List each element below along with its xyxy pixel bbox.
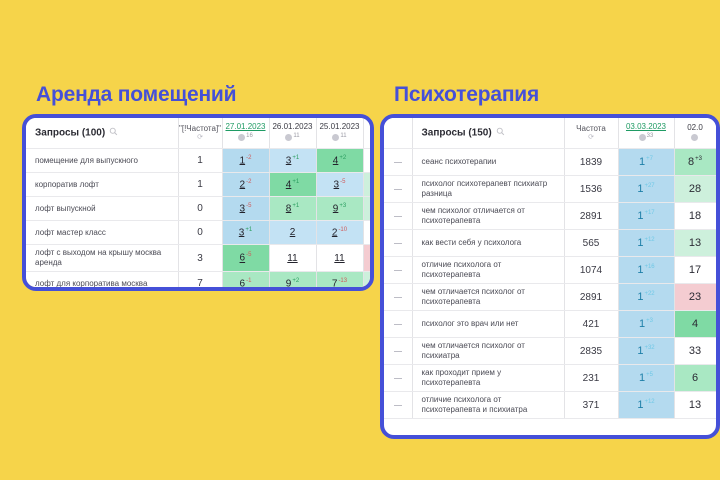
minus-icon[interactable] (384, 311, 412, 338)
header-date-0-count: 33 (619, 133, 674, 144)
position-value[interactable]: 1+7 (639, 156, 653, 168)
query-cell[interactable]: чем психолог отличается от психотерапевт… (412, 203, 564, 230)
table-row[interactable]: чем отличается психолог от психотерапевт… (384, 284, 716, 311)
header-query-left[interactable]: Запросы (100) (26, 118, 178, 149)
position-value[interactable]: 13 (689, 237, 701, 249)
position-value[interactable]: 6 (692, 372, 698, 384)
query-cell[interactable]: лофт с выходом на крышу москва аренда (26, 245, 178, 272)
position-delta: +22 (644, 291, 654, 297)
table-row[interactable]: чем отличается психолог от психиатра2835… (384, 338, 716, 365)
header-frequency-left[interactable]: "[!Частота]" ⟳ (178, 118, 222, 149)
position-delta: +2 (339, 155, 346, 161)
position-cell[interactable]: 6-5 (222, 245, 269, 272)
table-row[interactable]: психолог психотерапевт психиатр разница1… (384, 176, 716, 203)
minus-glyph (394, 297, 402, 298)
position-delta: +12 (644, 399, 654, 405)
position-cell[interactable]: 3+1 (269, 149, 316, 173)
header-date-2-count-value: 11 (340, 133, 346, 139)
query-cell[interactable]: лофт мастер класс (26, 221, 178, 245)
position-delta: -2 (246, 179, 251, 185)
query-cell[interactable]: лофт для корпоратива москва (26, 272, 178, 292)
position-cell[interactable]: 3-5 (222, 197, 269, 221)
minus-icon[interactable] (384, 257, 412, 284)
rank-table-right-body: сеанс психотерапии18391+78+3психолог пси… (384, 149, 716, 419)
minus-glyph (394, 378, 402, 379)
query-cell[interactable]: корпоратив лофт (26, 173, 178, 197)
minus-icon[interactable] (384, 176, 412, 203)
query-cell[interactable]: как проходит прием у психотерапевта (412, 365, 564, 392)
minus-icon[interactable] (384, 365, 412, 392)
minus-icon[interactable] (384, 392, 412, 419)
right-panel: Психотерапия Запросы (150) (380, 84, 720, 439)
table-row[interactable]: помещение для выпускного11-23+14+224 (26, 149, 374, 173)
header-date-0[interactable]: 03.03.2023 33 (618, 118, 674, 149)
position-value[interactable]: 1+22 (637, 291, 654, 303)
position-value[interactable]: 33 (689, 345, 701, 357)
position-delta: +3 (695, 156, 702, 162)
minus-glyph (394, 405, 402, 406)
query-cell[interactable]: психолог психотерапевт психиатр разница (412, 176, 564, 203)
position-cell[interactable]: 13 (674, 230, 716, 257)
position-cell[interactable]: 9+2 (269, 272, 316, 292)
frequency-cell: 1 (178, 173, 222, 197)
position-value[interactable]: 1+12 (637, 237, 654, 249)
position-value[interactable]: 2 (290, 227, 296, 238)
header-date-1[interactable]: 02.0 (674, 118, 716, 149)
header-date-0-label[interactable]: 03.03.2023 (626, 122, 666, 131)
query-cell[interactable]: чем отличается психолог от психотерапевт… (412, 284, 564, 311)
position-cell[interactable]: 1+27 (618, 176, 674, 203)
table-row[interactable]: отличие психолога от психотерапевта и пс… (384, 392, 716, 419)
query-cell[interactable]: сеанс психотерапии (412, 149, 564, 176)
query-cell[interactable]: как вести себя у психолога (412, 230, 564, 257)
frequency-cell: 421 (564, 311, 618, 338)
position-delta: +32 (644, 345, 654, 351)
position-delta: +1 (292, 203, 299, 209)
globe-icon (332, 134, 339, 141)
position-value[interactable]: 4 (692, 318, 698, 330)
position-value[interactable]: 3 (286, 155, 292, 166)
position-cell[interactable]: 1+7 (618, 149, 674, 176)
frequency-cell: 0 (178, 197, 222, 221)
query-cell[interactable]: помещение для выпускного (26, 149, 178, 173)
position-cell[interactable]: 1+16 (618, 257, 674, 284)
frequency-cell: 1839 (564, 149, 618, 176)
table-row[interactable]: чем психолог отличается от психотерапевт… (384, 203, 716, 230)
table-row[interactable]: отличие психолога от психотерапевта10741… (384, 257, 716, 284)
table-header-row: Запросы (100) "[!Частота]" ⟳ 27.01.2023 … (26, 118, 374, 149)
position-cell[interactable]: 12 (363, 197, 374, 221)
query-cell[interactable]: психолог это врач или нет (412, 311, 564, 338)
table-row[interactable]: лофт выпускной03-58+19+312 (26, 197, 374, 221)
position-value[interactable]: 2 (240, 179, 246, 190)
position-delta: +16 (644, 264, 654, 270)
position-cell[interactable]: 8 (363, 173, 374, 197)
minus-icon[interactable] (384, 284, 412, 311)
minus-glyph (394, 189, 402, 190)
header-date-0-label[interactable]: 27.01.2023 (225, 122, 265, 131)
position-delta: +1 (292, 155, 299, 161)
header-date-3[interactable]: 24. (363, 118, 374, 149)
header-frequency-label: "[!Частота]" (179, 124, 221, 133)
position-delta: -5 (246, 252, 251, 258)
position-cell[interactable]: 1+22 (618, 284, 674, 311)
position-delta: +1 (292, 179, 299, 185)
position-value[interactable]: 1+3 (639, 318, 653, 330)
position-cell[interactable]: 9+3 (316, 197, 363, 221)
header-date-2-label[interactable]: 25.01.2023 (319, 122, 359, 131)
position-cell[interactable]: 17 (674, 257, 716, 284)
position-cell[interactable]: 1+12 (618, 230, 674, 257)
header-date-2-count: 11 (317, 133, 363, 144)
header-frequency-sub: ⟳ (565, 134, 618, 142)
position-delta: +3 (646, 318, 653, 324)
query-cell[interactable]: отличие психолога от психотерапевта и пс… (412, 392, 564, 419)
position-cell[interactable]: 1+32 (618, 338, 674, 365)
table-row[interactable]: как проходит прием у психотерапевта2311+… (384, 365, 716, 392)
header-query-right[interactable]: Запросы (150) (412, 118, 564, 149)
header-date-1-label[interactable]: 02.0 (687, 123, 703, 132)
position-delta: -5 (340, 179, 345, 185)
header-date-2[interactable]: 25.01.2023 11 (316, 118, 363, 149)
position-cell[interactable]: 24 (363, 149, 374, 173)
globe-icon (285, 134, 292, 141)
table-header-row: Запросы (150) Частота ⟳ 03.03.2023 33 02… (384, 118, 716, 149)
query-cell[interactable]: лофт выпускной (26, 197, 178, 221)
minus-glyph (394, 270, 402, 271)
position-value[interactable]: 7 (332, 278, 338, 289)
frequency-cell: 1074 (564, 257, 618, 284)
position-delta: +7 (646, 156, 653, 162)
position-cell[interactable]: 1+3 (618, 311, 674, 338)
table-row[interactable]: лофт для корпоратива москва76-19+27-1320 (26, 272, 374, 292)
table-row[interactable]: корпоратив лофт12-24+13-58 (26, 173, 374, 197)
position-value[interactable]: 23 (689, 291, 701, 303)
table-row[interactable]: сеанс психотерапии18391+78+3 (384, 149, 716, 176)
position-cell[interactable]: 2-2 (222, 173, 269, 197)
header-date-1-count (675, 134, 716, 143)
frequency-cell: 231 (564, 365, 618, 392)
globe-icon (238, 134, 245, 141)
position-cell[interactable]: 11 (316, 245, 363, 272)
position-cell[interactable]: 20 (363, 272, 374, 292)
position-delta: +2 (292, 278, 299, 284)
frequency-cell: 371 (564, 392, 618, 419)
header-date-1-count: 11 (270, 133, 316, 144)
minus-icon[interactable] (384, 203, 412, 230)
position-cell[interactable]: 6 (674, 365, 716, 392)
position-value[interactable]: 13 (689, 399, 701, 411)
position-cell[interactable]: 4+1 (269, 173, 316, 197)
position-cell[interactable]: 33 (674, 338, 716, 365)
position-delta: +12 (644, 237, 654, 243)
header-frequency-right[interactable]: Частота ⟳ (564, 118, 618, 149)
position-cell[interactable]: 13 (674, 392, 716, 419)
position-cell[interactable]: 1+12 (618, 392, 674, 419)
position-value[interactable]: 4 (333, 155, 339, 166)
position-delta: -2 (246, 155, 251, 161)
position-value[interactable]: 11 (334, 253, 344, 264)
position-value[interactable]: 28 (689, 183, 701, 195)
frequency-cell: 2891 (564, 284, 618, 311)
minus-icon[interactable] (384, 338, 412, 365)
header-date-0-count: 16 (223, 133, 269, 144)
position-value[interactable]: 3 (334, 179, 340, 190)
globe-icon (691, 134, 698, 141)
query-cell[interactable]: чем отличается психолог от психиатра (412, 338, 564, 365)
minus-glyph (394, 351, 402, 352)
rank-table-left: Запросы (100) "[!Частота]" ⟳ 27.01.2023 … (26, 118, 374, 291)
position-cell[interactable]: 1+5 (618, 365, 674, 392)
position-value[interactable]: 1+12 (637, 399, 654, 411)
frequency-cell: 7 (178, 272, 222, 292)
screenshot-root: Аренда помещений Запросы (100) (0, 0, 720, 480)
position-delta: +5 (646, 372, 653, 378)
position-delta: -10 (338, 227, 347, 233)
frequency-cell: 0 (178, 221, 222, 245)
position-cell[interactable]: 4+2 (316, 149, 363, 173)
position-cell[interactable]: 7-13 (316, 272, 363, 292)
table-row[interactable]: лофт мастер класс03+122-1012 (26, 221, 374, 245)
position-value[interactable]: 1 (240, 155, 246, 166)
position-cell[interactable]: 2-10 (316, 221, 363, 245)
position-delta: -1 (246, 278, 251, 284)
frequency-cell: 1536 (564, 176, 618, 203)
rank-table-right: Запросы (150) Частота ⟳ 03.03.2023 33 02… (384, 118, 717, 419)
position-delta: +27 (644, 183, 654, 189)
position-delta: +17 (644, 210, 654, 216)
rank-table-left-body: помещение для выпускного11-23+14+224корп… (26, 149, 374, 292)
position-value[interactable]: 8+3 (688, 156, 702, 168)
header-date-1-count-value: 11 (293, 133, 299, 139)
globe-icon (639, 134, 646, 141)
position-value[interactable]: 9 (286, 278, 292, 289)
position-cell[interactable]: 3+1 (222, 221, 269, 245)
position-cell[interactable]: 23 (674, 284, 716, 311)
left-panel-title: Аренда помещений (36, 84, 374, 105)
position-cell[interactable]: 1-2 (222, 149, 269, 173)
position-delta: +3 (339, 203, 346, 209)
header-date-1-label[interactable]: 26.01.2023 (272, 122, 312, 131)
minus-glyph (394, 216, 402, 217)
left-table-card: Запросы (100) "[!Частота]" ⟳ 27.01.2023 … (22, 114, 374, 291)
position-cell[interactable]: 4 (674, 311, 716, 338)
position-value[interactable]: 18 (689, 210, 701, 222)
position-delta: +1 (245, 227, 252, 233)
position-value[interactable]: 4 (286, 179, 292, 190)
position-cell[interactable]: 3-5 (316, 173, 363, 197)
magnifier-icon[interactable] (496, 127, 505, 139)
position-delta: -13 (338, 278, 347, 284)
header-date-0-count-value: 16 (246, 133, 253, 139)
minus-icon[interactable] (384, 149, 412, 176)
position-cell[interactable]: 6-1 (222, 272, 269, 292)
magnifier-icon[interactable] (109, 127, 118, 139)
position-value[interactable]: 8 (286, 203, 292, 214)
position-value[interactable]: 2 (332, 227, 338, 238)
position-cell[interactable]: 8+3 (674, 149, 716, 176)
position-value[interactable]: 9 (333, 203, 339, 214)
right-table-card: Запросы (150) Частота ⟳ 03.03.2023 33 02… (380, 114, 720, 439)
header-collapse-col (384, 118, 412, 149)
position-value[interactable]: 1+27 (637, 183, 654, 195)
right-panel-title: Психотерапия (394, 84, 720, 105)
position-cell[interactable]: 28 (674, 176, 716, 203)
header-frequency-label: Частота (576, 124, 606, 133)
minus-icon[interactable] (384, 230, 412, 257)
position-value[interactable]: 1+17 (637, 210, 654, 222)
position-value[interactable]: 11 (287, 253, 297, 264)
position-value[interactable]: 3 (240, 203, 246, 214)
position-value[interactable]: 17 (689, 264, 701, 276)
minus-glyph (394, 162, 402, 163)
frequency-cell: 3 (178, 245, 222, 272)
position-value[interactable]: 6 (240, 278, 246, 289)
frequency-cell: 2835 (564, 338, 618, 365)
header-query-label: Запросы (150) (422, 128, 492, 139)
table-row[interactable]: как вести себя у психолога5651+1213 (384, 230, 716, 257)
header-frequency-sub: ⟳ (179, 134, 222, 142)
position-cell[interactable]: 11 (363, 245, 374, 272)
position-cell[interactable]: 11 (269, 245, 316, 272)
position-value[interactable]: 1+16 (637, 264, 654, 276)
frequency-cell: 1 (178, 149, 222, 173)
position-value[interactable]: 1+32 (637, 345, 654, 357)
position-cell[interactable]: 2 (269, 221, 316, 245)
query-cell[interactable]: отличие психолога от психотерапевта (412, 257, 564, 284)
minus-glyph (394, 324, 402, 325)
position-value[interactable]: 1+5 (639, 372, 653, 384)
header-date-0[interactable]: 27.01.2023 16 (222, 118, 269, 149)
position-value[interactable]: 3 (239, 227, 245, 238)
position-cell[interactable]: 1+17 (618, 203, 674, 230)
position-cell[interactable]: 18 (674, 203, 716, 230)
header-query-label: Запросы (100) (35, 128, 105, 139)
position-value[interactable]: 6 (240, 253, 246, 264)
header-date-0-count-value: 33 (647, 133, 654, 139)
table-row[interactable]: лофт с выходом на крышу москва аренда36-… (26, 245, 374, 272)
position-cell[interactable]: 8+1 (269, 197, 316, 221)
frequency-cell: 2891 (564, 203, 618, 230)
header-date-1[interactable]: 26.01.2023 11 (269, 118, 316, 149)
frequency-cell: 565 (564, 230, 618, 257)
table-row[interactable]: психолог это врач или нет4211+34 (384, 311, 716, 338)
position-delta: -5 (246, 203, 251, 209)
minus-glyph (394, 243, 402, 244)
left-panel: Аренда помещений Запросы (100) (22, 84, 374, 291)
position-cell[interactable]: 12 (363, 221, 374, 245)
